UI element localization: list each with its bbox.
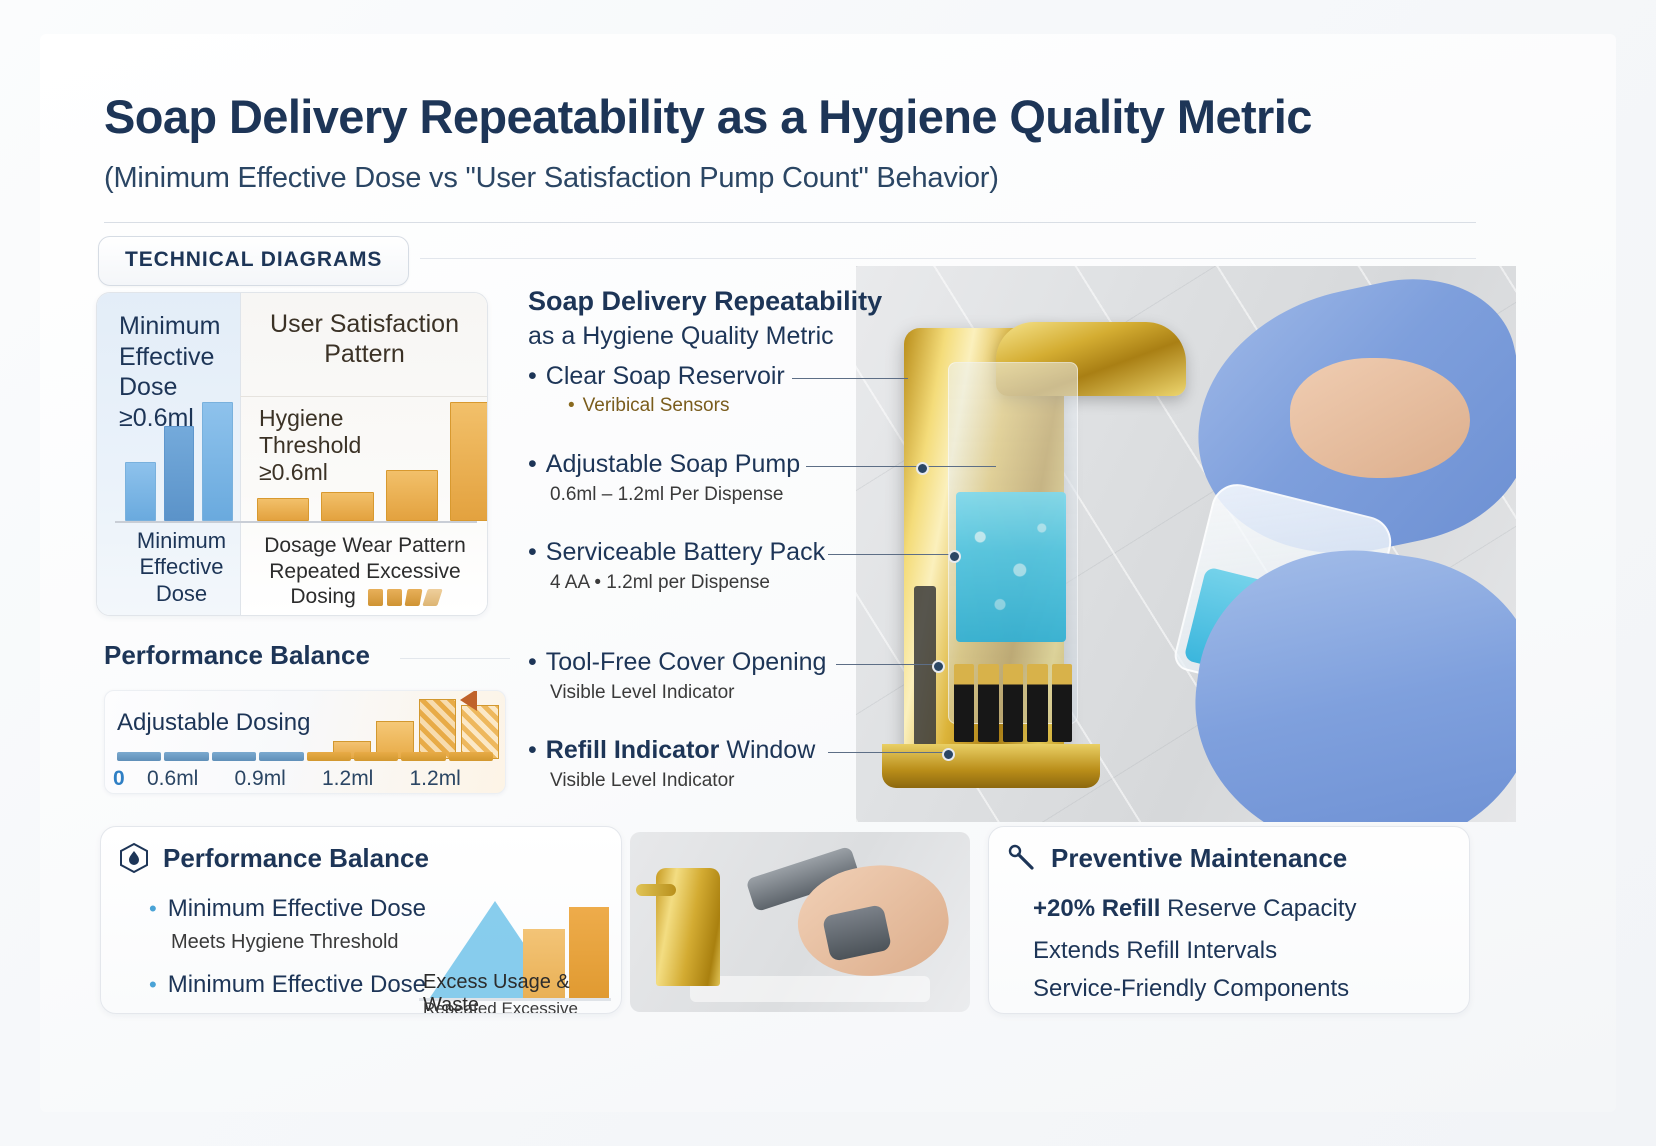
wrench-icon xyxy=(1005,841,1039,875)
card-heading: Performance Balance xyxy=(163,843,429,874)
track-segment xyxy=(259,752,303,761)
track-segment xyxy=(449,752,493,761)
bullet-icon: • xyxy=(149,972,157,997)
bar xyxy=(419,699,457,759)
section-chip-rule xyxy=(420,258,1476,259)
callout-sub: 0.6ml – 1.2ml Per Dispense xyxy=(550,484,958,506)
bullet-icon: • xyxy=(528,736,537,764)
tick-label-4: 1.2ml xyxy=(410,767,498,791)
comparison-chart-card: Minimum Effective Dose ≥0.6ml User Satis… xyxy=(96,292,488,616)
track-segment xyxy=(164,752,208,761)
dosage-chips-icon xyxy=(368,589,440,606)
leader-line xyxy=(792,378,908,379)
callout-sub: 4 AA • 1.2ml per Dispense xyxy=(550,572,958,594)
callout-label: •Adjustable Soap Pump xyxy=(528,450,958,479)
callout-title: Soap Delivery Repeatability xyxy=(528,286,948,317)
bullet-icon: • xyxy=(528,362,537,390)
callout-sub: Visible Level Indicator xyxy=(550,770,958,792)
service-photo xyxy=(630,832,970,1012)
callout-tool-free-cover-opening[interactable]: •Tool-Free Cover Opening Visible Level I… xyxy=(528,648,958,704)
tick-label-1: 0.6ml xyxy=(147,767,235,791)
callout-label: •Refill Indicator Window xyxy=(528,736,958,765)
callout-serviceable-battery-pack[interactable]: •Serviceable Battery Pack 4 AA • 1.2ml p… xyxy=(528,538,958,594)
callout-label: •Tool-Free Cover Opening xyxy=(528,648,958,677)
callout-subtitle: as a Hygiene Quality Metric xyxy=(528,322,948,351)
soap-liquid xyxy=(956,492,1066,642)
section-chip-technical-diagrams: TECHNICAL DIAGRAMS xyxy=(98,236,409,286)
adjustable-dosing-slider-card[interactable]: Adjustable Dosing 0 0.6ml 0.9ml 1.2ml 1.… xyxy=(104,690,506,794)
bullet-sub-icon: • xyxy=(568,395,575,416)
chart-baseline xyxy=(115,521,477,523)
callout-sub: Visible Level Indicator xyxy=(550,682,958,704)
infographic-page: Soap Delivery Repeatability as a Hygiene… xyxy=(0,0,1656,1146)
bar xyxy=(450,402,488,521)
bullet-icon: • xyxy=(149,896,157,921)
leader-line xyxy=(836,664,936,665)
bar xyxy=(321,492,373,521)
chart-bars-user-satisfaction-pattern xyxy=(257,371,488,521)
leader-node xyxy=(932,660,945,673)
track-segment xyxy=(117,752,161,761)
dosing-slider-track[interactable] xyxy=(117,752,493,761)
bar xyxy=(386,470,438,522)
leader-node xyxy=(948,550,961,563)
footer-line-3: Dosing xyxy=(249,584,481,609)
preventive-maintenance-card: Preventive Maintenance +20% Refill Reser… xyxy=(988,826,1470,1014)
callout-label: •Clear Soap Reservoir xyxy=(528,362,958,391)
track-segment xyxy=(212,752,256,761)
leader-line xyxy=(828,752,946,753)
dispenser-thumbnail-spout xyxy=(636,884,676,896)
callout-sub: •Veribical Sensors xyxy=(568,395,958,417)
page-title: Soap Delivery Repeatability as a Hygiene… xyxy=(104,92,1404,142)
tick-label-0: 0 xyxy=(113,767,125,790)
callout-refill-indicator-window[interactable]: •Refill Indicator Window Visible Level I… xyxy=(528,736,958,792)
bullet-icon: • xyxy=(528,538,537,566)
bullet-icon: • xyxy=(528,450,537,478)
leader-line xyxy=(828,554,952,555)
excess-usage-subnote: Repeated Excessive Dosing xyxy=(423,999,621,1014)
callout-clear-soap-reservoir[interactable]: •Clear Soap Reservoir •Veribical Sensors xyxy=(528,362,958,417)
dosing-tick-labels: 0 0.6ml 0.9ml 1.2ml 1.2ml xyxy=(113,767,497,791)
bar xyxy=(461,705,499,759)
card-heading: Preventive Maintenance xyxy=(1051,843,1347,874)
chart-bars-minimum-effective-dose xyxy=(125,371,233,521)
bullet-item: •Minimum Effective Dose xyxy=(149,895,426,923)
performance-balance-rule xyxy=(400,658,510,659)
performance-balance-heading: Performance Balance xyxy=(104,640,370,671)
comparison-right-title: User Satisfaction Pattern xyxy=(257,309,472,369)
performance-balance-card: Performance Balance •Minimum Effective D… xyxy=(100,826,622,1014)
bare-hand xyxy=(1290,358,1470,478)
dosing-pointer-icon xyxy=(460,690,477,711)
comparison-left-footer: Minimum Effective Dose xyxy=(119,528,244,607)
maintenance-line-2: Extends Refill Intervals xyxy=(1033,937,1277,965)
droplet-hex-icon xyxy=(117,841,151,875)
bar xyxy=(202,402,233,521)
maintenance-line-1: +20% Refill Reserve Capacity xyxy=(1033,895,1356,923)
callout-label: •Serviceable Battery Pack xyxy=(528,538,958,567)
bar xyxy=(164,426,195,521)
maintenance-line-3: Service-Friendly Components xyxy=(1033,975,1349,1003)
page-header: Soap Delivery Repeatability as a Hygiene… xyxy=(104,92,1404,195)
page-subtitle: (Minimum Effective Dose vs "User Satisfa… xyxy=(104,162,1404,195)
track-segment xyxy=(307,752,351,761)
bar xyxy=(257,498,309,521)
leader-node xyxy=(942,748,955,761)
bullet-item: •Minimum Effective Dose xyxy=(149,971,426,999)
footer-line-2: Repeated Excessive xyxy=(249,559,481,584)
sink-surface xyxy=(690,976,930,1002)
comparison-right-footer: Dosage Wear Pattern Repeated Excessive D… xyxy=(249,533,481,609)
bullet-sub: Meets Hygiene Threshold xyxy=(171,931,399,954)
leader-line xyxy=(806,466,996,467)
bar xyxy=(125,462,156,521)
callout-adjustable-soap-pump[interactable]: •Adjustable Soap Pump 0.6ml – 1.2ml Per … xyxy=(528,450,958,506)
footer-line-1: Dosage Wear Pattern xyxy=(249,533,481,558)
track-segment xyxy=(401,752,445,761)
callout-list: Soap Delivery Repeatability as a Hygiene… xyxy=(528,286,948,351)
adjustable-dosing-label: Adjustable Dosing xyxy=(117,709,310,737)
track-segment xyxy=(354,752,398,761)
leader-node xyxy=(916,462,929,475)
header-divider xyxy=(104,222,1476,223)
tick-label-3: 1.2ml xyxy=(322,767,410,791)
battery-pack xyxy=(954,664,1072,742)
tick-label-2: 0.9ml xyxy=(235,767,323,791)
bullet-icon: • xyxy=(528,648,537,676)
